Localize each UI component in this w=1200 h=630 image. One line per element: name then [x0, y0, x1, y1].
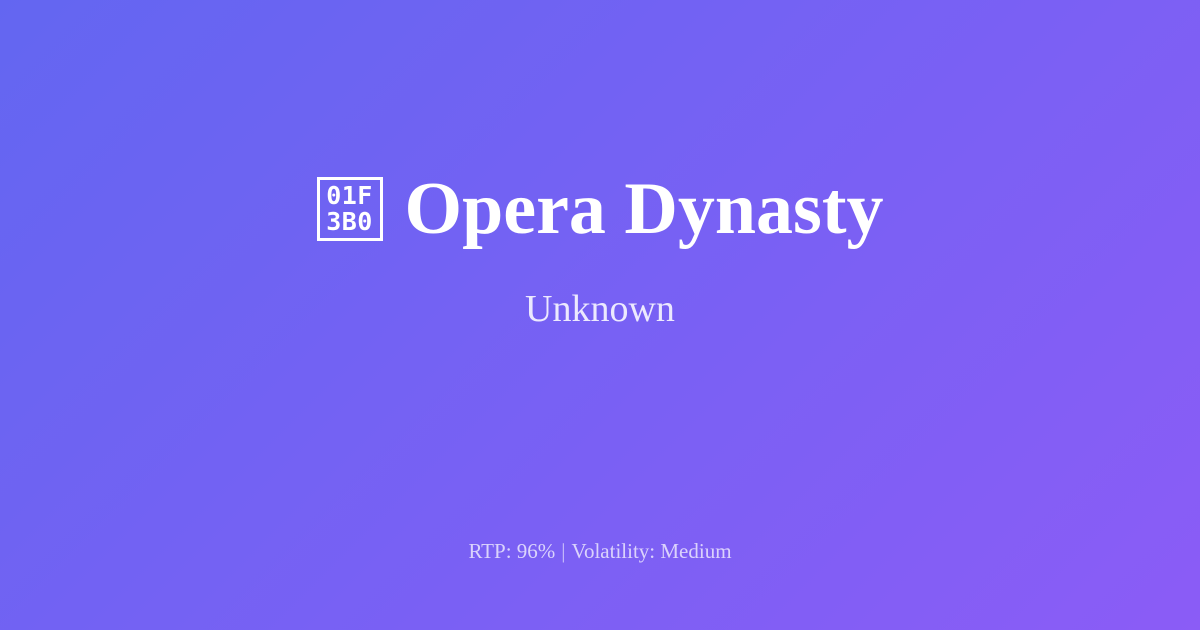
- page-title: Opera Dynasty: [405, 172, 884, 246]
- tofu-codepoint-top: 01F: [326, 183, 373, 209]
- tofu-codepoint-bottom: 3B0: [326, 209, 373, 235]
- hero-block: 01F 3B0 Opera Dynasty Unknown: [0, 0, 1200, 500]
- title-row: 01F 3B0 Opera Dynasty: [317, 172, 884, 246]
- meta-line: RTP: 96%|Volatility: Medium: [0, 541, 1200, 562]
- volatility-value: Volatility: Medium: [572, 539, 732, 563]
- rtp-value: RTP: 96%: [468, 539, 555, 563]
- meta-separator: |: [555, 539, 571, 563]
- og-card: 01F 3B0 Opera Dynasty Unknown RTP: 96%|V…: [0, 0, 1200, 630]
- subtitle: Unknown: [525, 290, 675, 328]
- slot-machine-icon: 01F 3B0: [317, 177, 383, 241]
